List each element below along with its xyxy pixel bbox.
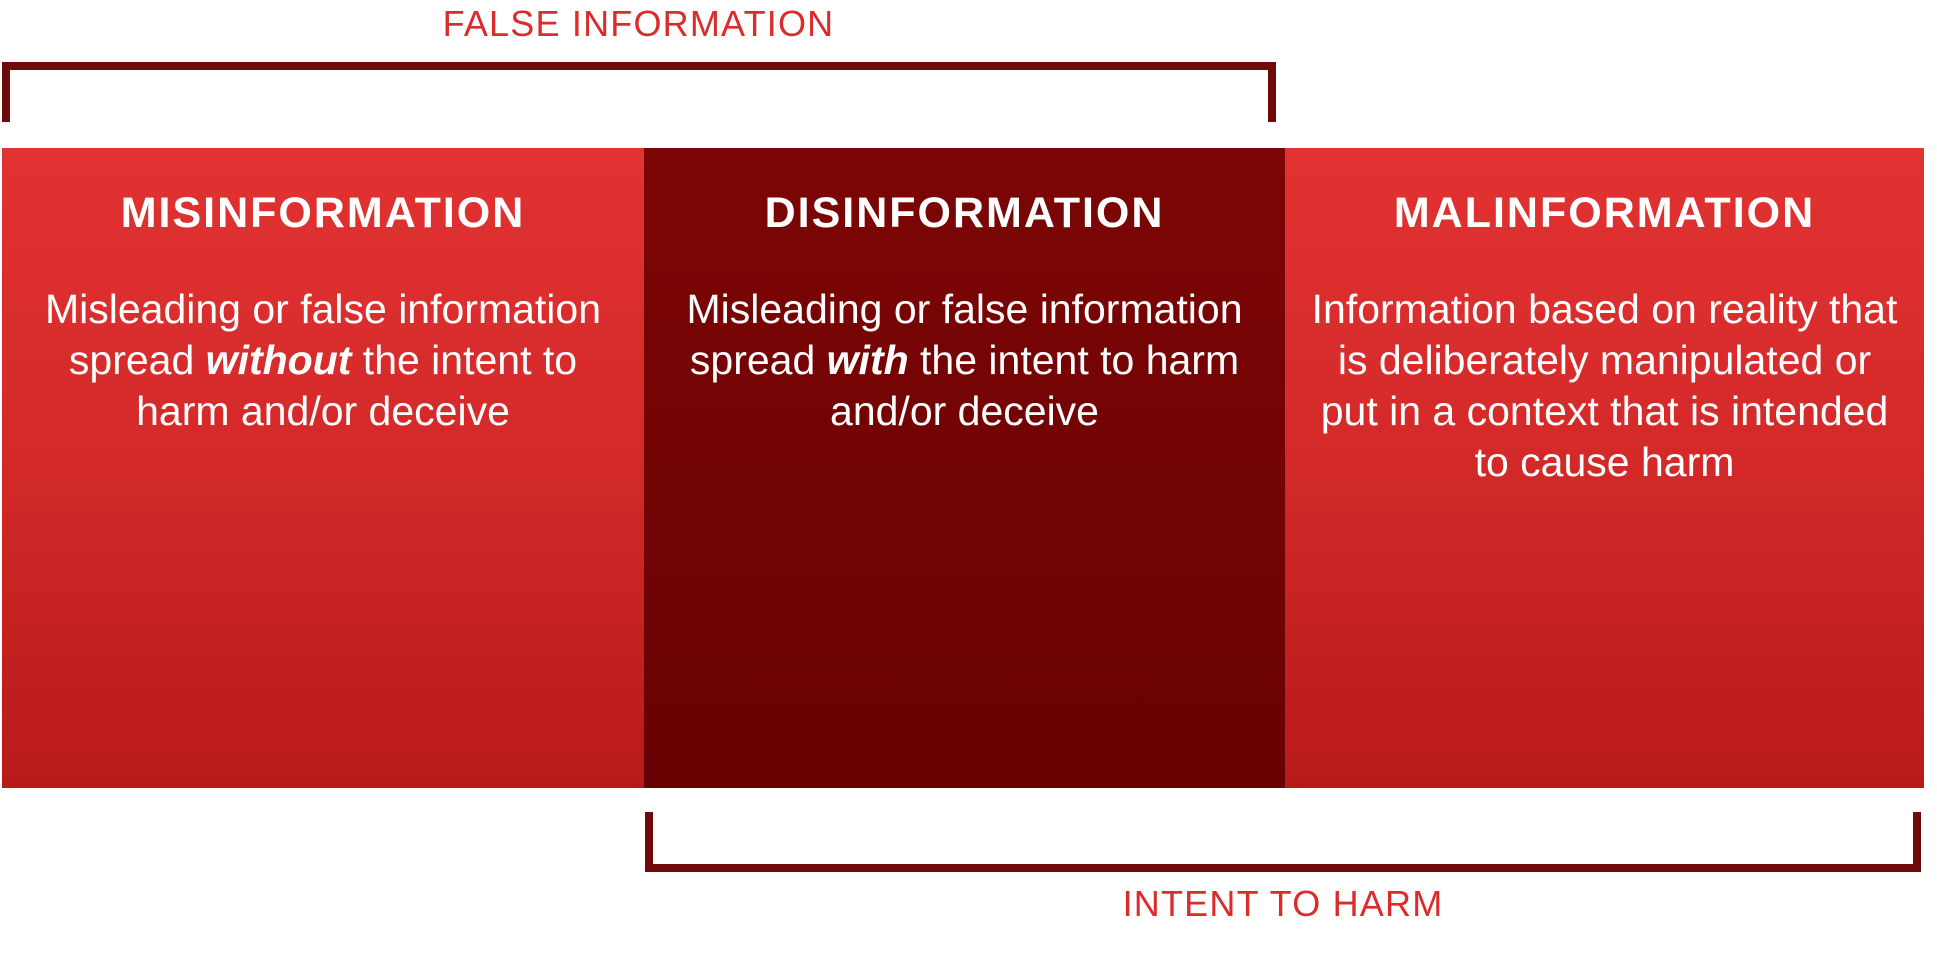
panel-misinformation-title: MISINFORMATION [20, 188, 626, 238]
intent-to-harm-bracket [645, 812, 1921, 872]
misinformation-diagram: FALSE INFORMATION MISINFORMATION Mislead… [0, 0, 1937, 971]
bracket-top-left-tick [2, 62, 10, 122]
panel-misinformation: MISINFORMATION Misleading or false infor… [2, 148, 644, 788]
panel-disinformation: DISINFORMATION Misleading or false infor… [644, 148, 1285, 788]
panel-row: MISINFORMATION Misleading or false infor… [2, 148, 1924, 788]
bracket-top-right-tick [1268, 62, 1276, 122]
panel-disinformation-body-emphasis: with [827, 337, 909, 383]
panel-misinformation-body: Misleading or false information spread w… [20, 284, 626, 437]
bracket-bottom-right-tick [1913, 812, 1921, 872]
panel-disinformation-title: DISINFORMATION [662, 188, 1267, 238]
bracket-bottom-horizontal-bar [645, 864, 1921, 872]
panel-malinformation-body-before: Information based on reality that is del… [1312, 286, 1898, 485]
false-information-bracket [2, 62, 1276, 122]
false-information-label: FALSE INFORMATION [0, 2, 1277, 46]
panel-malinformation-body: Information based on reality that is del… [1303, 284, 1906, 488]
panel-misinformation-body-emphasis: without [206, 337, 352, 383]
intent-to-harm-label: INTENT TO HARM [645, 882, 1921, 926]
panel-malinformation: MALINFORMATION Information based on real… [1285, 148, 1924, 788]
panel-malinformation-title: MALINFORMATION [1303, 188, 1906, 238]
panel-disinformation-body: Misleading or false information spread w… [662, 284, 1267, 437]
bracket-bottom-left-tick [645, 812, 653, 872]
bracket-top-horizontal-bar [2, 62, 1276, 70]
